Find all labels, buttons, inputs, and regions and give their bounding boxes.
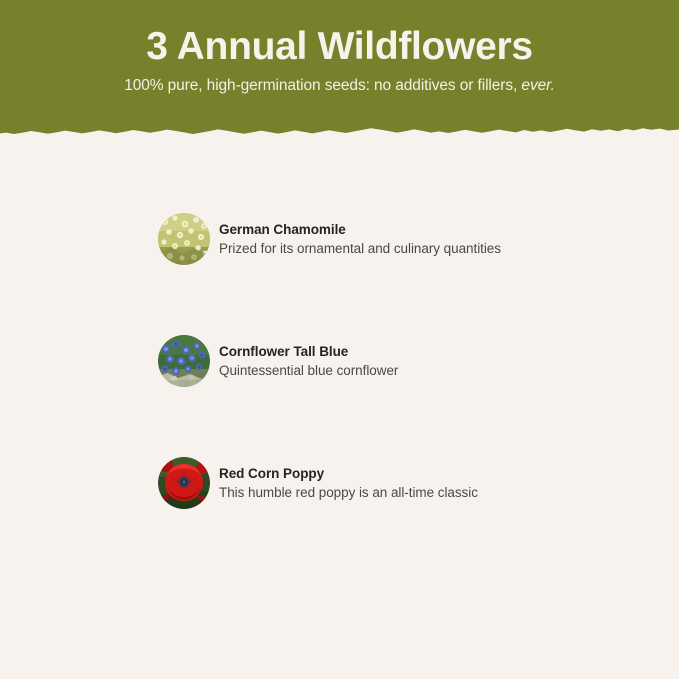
variety-description: Quintessential blue cornflower [219,361,628,380]
variety-description: Prized for its ornamental and culinary q… [219,239,628,258]
product-feature-panel: 3 Annual Wildflowers 100% pure, high-ger… [0,0,679,679]
header-banner: 3 Annual Wildflowers 100% pure, high-ger… [0,0,679,142]
german-chamomile-photo-icon [158,213,210,265]
subtitle-main-text: 100% pure, high-germination seeds: no ad… [124,77,517,94]
variety-list: German Chamomile Prized for its ornament… [158,213,628,509]
variety-text-block: German Chamomile Prized for its ornament… [210,220,628,259]
header-content: 3 Annual Wildflowers 100% pure, high-ger… [0,0,679,96]
page-title: 3 Annual Wildflowers [0,0,679,69]
variety-text-block: Red Corn Poppy This humble red poppy is … [210,464,628,503]
variety-name: German Chamomile [219,220,628,239]
german-chamomile-thumbnail [158,213,210,265]
red-corn-poppy-photo-icon [158,457,210,509]
cornflower-tall-blue-thumbnail [158,335,210,387]
subtitle-emphasis-text: ever. [521,77,554,94]
variety-description: This humble red poppy is an all-time cla… [219,483,628,502]
page-subtitle: 100% pure, high-germination seeds: no ad… [0,69,679,96]
list-item[interactable]: Cornflower Tall Blue Quintessential blue… [158,335,628,387]
variety-text-block: Cornflower Tall Blue Quintessential blue… [210,342,628,381]
list-item[interactable]: German Chamomile Prized for its ornament… [158,213,628,265]
variety-name: Red Corn Poppy [219,464,628,483]
red-corn-poppy-thumbnail [158,457,210,509]
cornflower-tall-blue-photo-icon [158,335,210,387]
list-item[interactable]: Red Corn Poppy This humble red poppy is … [158,457,628,509]
variety-name: Cornflower Tall Blue [219,342,628,361]
torn-paper-edge-icon [0,120,679,142]
